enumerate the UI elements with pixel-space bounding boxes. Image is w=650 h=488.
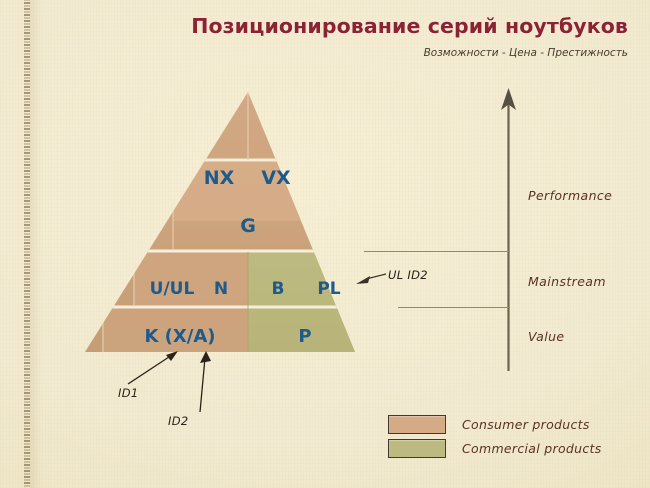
legend-label-consumer: Consumer products: [462, 417, 590, 432]
callout-line-id1: [128, 355, 172, 384]
legend-swatch-consumer: [388, 415, 446, 434]
callout-label-ul-id2: UL ID2: [388, 268, 428, 282]
axis-label-value: Value: [528, 329, 565, 344]
axis-label-performance: Performance: [528, 188, 612, 203]
tier-second-panel: [173, 161, 323, 221]
callout-label-id2: ID2: [168, 414, 188, 428]
tier-label-n: N: [214, 279, 228, 299]
tier-label-b: B: [272, 279, 285, 299]
page-subtitle: Возможности - Цена - Престижность: [191, 47, 628, 59]
tier-label-pl: PL: [317, 279, 340, 299]
tier-label-p: P: [298, 326, 311, 347]
tier-label-u-ul: U/UL: [150, 279, 195, 299]
vertical-value-axis: [494, 86, 524, 371]
tier-label-nx: NX: [204, 167, 235, 189]
legend-label-commercial: Commercial products: [462, 441, 602, 456]
axis-divider-performance-mainstream: [364, 251, 510, 252]
axis-label-mainstream: Mainstream: [528, 274, 606, 289]
pyramid-body: [78, 84, 363, 359]
legend-swatch-commercial: [388, 439, 446, 458]
tier-label-g: G: [240, 215, 256, 237]
positioning-pyramid: NX VX G U/UL N B PL K (X/A) P: [78, 84, 363, 359]
legend: Consumer products Commercial products: [388, 412, 602, 460]
callout-line-id2: [200, 358, 205, 412]
slide-canvas: Позиционирование серий ноутбуков Возможн…: [0, 0, 650, 488]
tier-third-commercial-panel: [248, 252, 363, 307]
legend-item-commercial: Commercial products: [388, 436, 602, 460]
callout-line-ul-id2: [366, 274, 386, 279]
page-title: Позиционирование серий ноутбуков: [191, 14, 628, 38]
callout-label-id1: ID1: [118, 386, 138, 400]
axis-divider-mainstream-value: [398, 307, 510, 308]
tier-label-vx: VX: [261, 167, 291, 189]
perforated-tear-strip: [24, 0, 30, 488]
tear-strip-shadow: [30, 0, 42, 488]
legend-item-consumer: Consumer products: [388, 412, 602, 436]
slide-header: Позиционирование серий ноутбуков Возможн…: [191, 14, 628, 59]
tier-label-k-x-a: K (X/A): [144, 326, 215, 347]
